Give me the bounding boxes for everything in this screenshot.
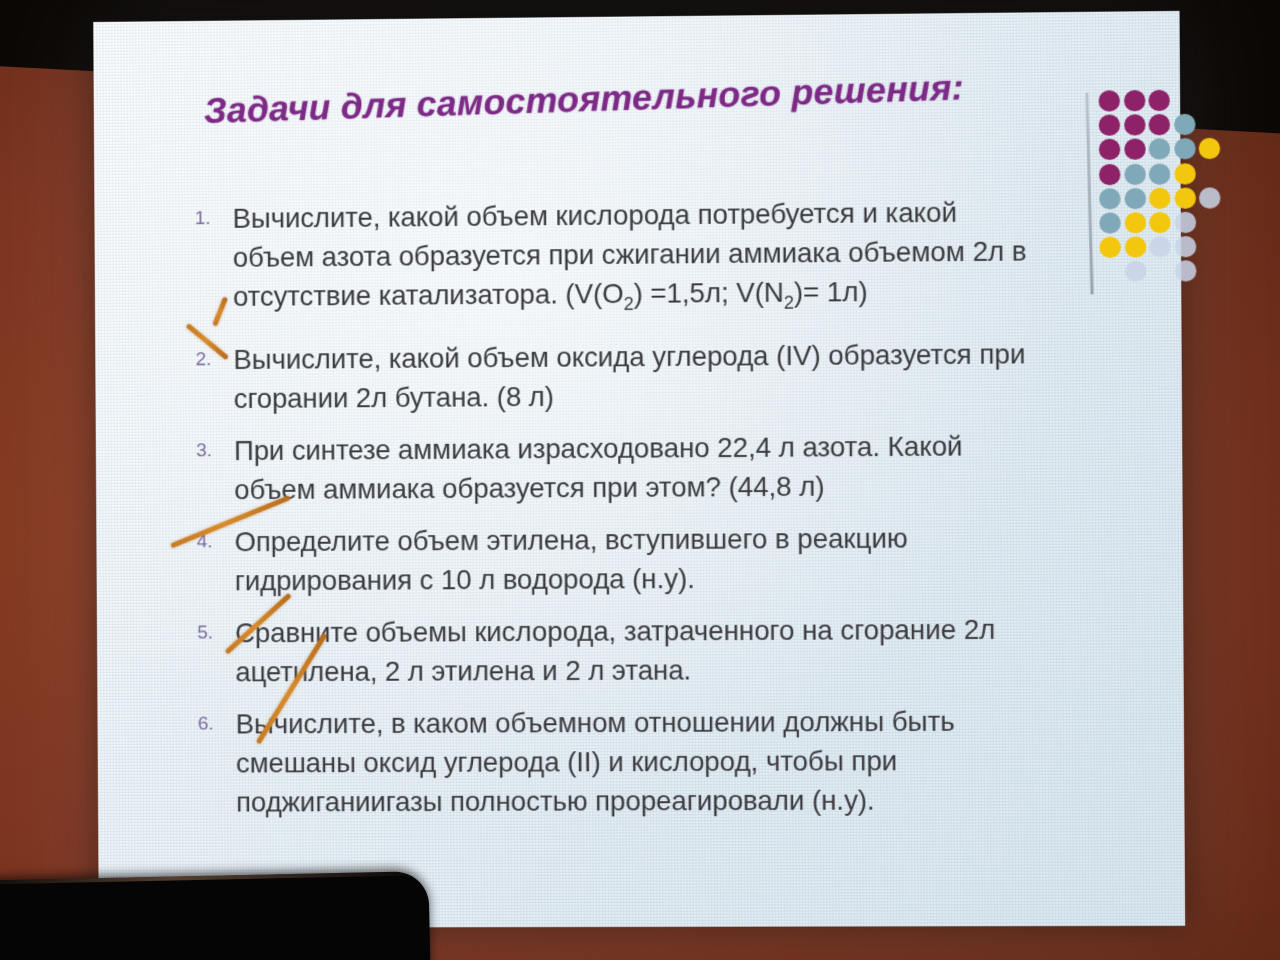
decoration-dot — [1149, 114, 1171, 135]
list-item-line: ацетилена, 2 л этилена и 2 л этана. — [235, 648, 1172, 691]
list-item-number: 1. — [154, 199, 232, 240]
list-item-line: гидрирования с 10 л водорода (н.у). — [235, 556, 1172, 600]
decoration-dot — [1199, 187, 1221, 208]
decoration-dot — [1099, 115, 1121, 136]
page-title: Задачи для самостоятельного решения: — [203, 64, 1052, 132]
decoration-dot — [1174, 187, 1196, 208]
decoration-dot — [1174, 163, 1196, 184]
list-item: 3.При синтезе аммиака израсходовано 22,4… — [156, 425, 1172, 510]
foreground-dark-object — [0, 871, 432, 960]
decoration-dot — [1174, 261, 1196, 282]
list-item-line: При синтезе аммиака израсходовано 22,4 л… — [234, 425, 1171, 470]
list-item-line: смешаны оксид углерода (II) и кислород, … — [236, 740, 1173, 782]
list-item-text: Определите объем этилена, вступившего в … — [234, 516, 1171, 599]
list-item-text: Вычислите, какой объем кислорода потребу… — [232, 191, 1170, 327]
decoration-dot — [1099, 139, 1121, 160]
list-item-line: Определите объем этилена, вступившего в … — [234, 516, 1171, 560]
list-item-text: При синтезе аммиака израсходовано 22,4 л… — [234, 425, 1171, 509]
list-item-line: Вычислите, в каком объемном отношении до… — [236, 700, 1173, 743]
projection-screen: Задачи для самостоятельного решения: 1.В… — [93, 11, 1185, 928]
decoration-dot — [1174, 236, 1196, 257]
photo-of-projected-slide: Задачи для самостоятельного решения: 1.В… — [0, 0, 1280, 960]
list-item-number: 6. — [157, 704, 235, 744]
list-item-text: Вычислите, какой объем оксида углерода (… — [233, 333, 1170, 418]
list-item: 2.Вычислите, какой объем оксида углерода… — [155, 333, 1171, 418]
decoration-dot — [1148, 90, 1170, 111]
decoration-dot — [1174, 114, 1196, 135]
list-item: 4.Определите объем этилена, вступившего … — [156, 516, 1172, 600]
decoration-dot — [1124, 139, 1146, 160]
list-item-line: объем аммиака образуется при этом? (44,8… — [234, 464, 1171, 509]
decoration-dot — [1174, 138, 1196, 159]
decoration-dot — [1124, 163, 1146, 184]
list-item: 5.Сравните объемы кислорода, затраченног… — [157, 608, 1173, 691]
decoration-dot — [1199, 138, 1221, 159]
list-item-text: Вычислите, в каком объемном отношении до… — [236, 700, 1174, 821]
list-item-line: Вычислите, какой объем оксида углерода (… — [233, 333, 1170, 379]
list-item-line: сгорании 2л бутана. (8 л) — [234, 372, 1171, 418]
list-item-number: 2. — [155, 339, 233, 380]
decoration-dot — [1123, 90, 1145, 111]
list-item: 6.Вычислите, в каком объемном отношении … — [157, 700, 1173, 821]
list-item-line: Сравните объемы кислорода, затраченного … — [235, 608, 1172, 652]
list-item-text: Сравните объемы кислорода, затраченного … — [235, 608, 1172, 691]
list-item-number: 3. — [156, 431, 234, 472]
list-item-number: 4. — [156, 522, 234, 562]
task-list: 1.Вычислите, какой объем кислорода потре… — [154, 191, 1173, 835]
slide-content: Задачи для самостоятельного решения: 1.В… — [93, 11, 1185, 928]
decoration-dot — [1099, 90, 1121, 111]
list-item-number: 5. — [157, 613, 235, 653]
list-item: 1.Вычислите, какой объем кислорода потре… — [154, 191, 1170, 327]
list-item-line: поджиганиигазы полностью прореагировали … — [236, 779, 1173, 821]
list-item-line: отсутствие катализатора. (V(O2) =1,5л; V… — [233, 270, 1170, 327]
decoration-dot — [1099, 164, 1121, 185]
decoration-dot — [1149, 139, 1171, 160]
decoration-dot — [1124, 114, 1146, 135]
decoration-dot — [1149, 163, 1171, 184]
decoration-dot — [1174, 212, 1196, 233]
